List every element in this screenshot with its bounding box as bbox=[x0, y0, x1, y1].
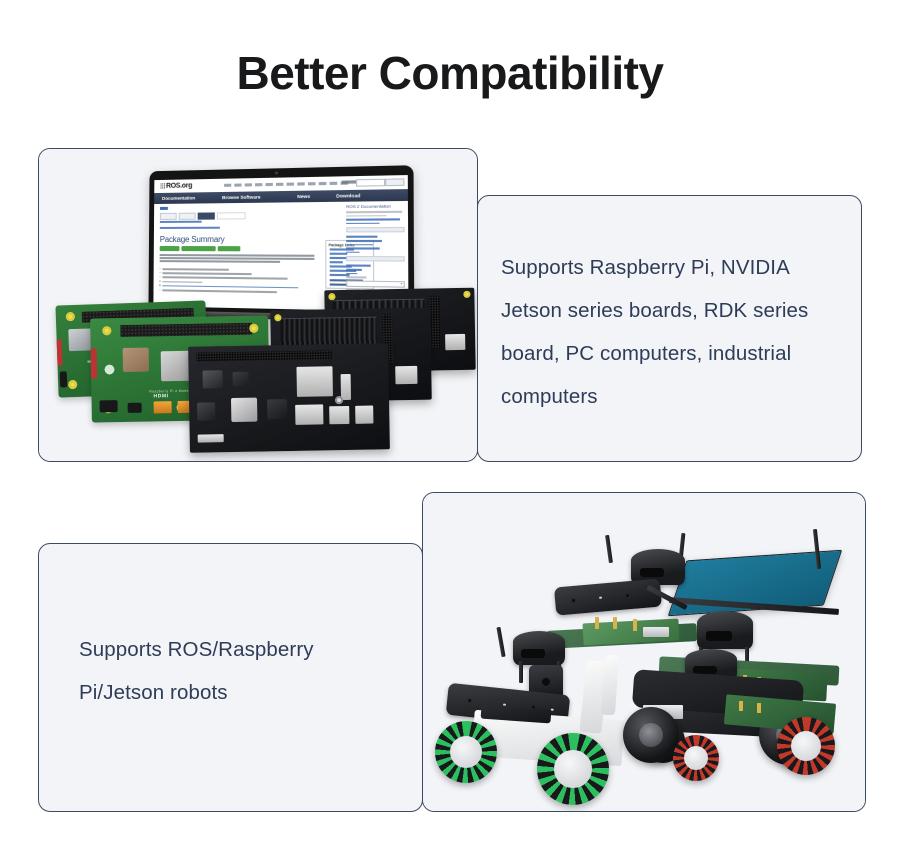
summary-bullets bbox=[162, 268, 317, 296]
ethernet-port bbox=[445, 334, 465, 350]
mecanum-wheel bbox=[435, 721, 497, 783]
ros-search-label bbox=[342, 180, 356, 183]
raspberry-logo-icon bbox=[103, 360, 116, 375]
chip bbox=[233, 372, 249, 386]
usb-port bbox=[295, 404, 323, 424]
ribbon-connector bbox=[198, 434, 224, 442]
boards-image-card: ROS.org Documentation Browse Software Ne… bbox=[38, 148, 478, 462]
usb-port bbox=[355, 406, 373, 424]
display-connector bbox=[91, 348, 98, 378]
hdmi-label: HDMI bbox=[153, 393, 168, 399]
page-title: Better Compatibility bbox=[0, 46, 900, 100]
ros-search-button[interactable] bbox=[385, 178, 404, 186]
status-badge bbox=[181, 246, 215, 251]
chip bbox=[123, 348, 149, 372]
chip bbox=[68, 328, 93, 351]
sidebar-heading: ROS 2 Documentation bbox=[346, 203, 404, 209]
link-line[interactable] bbox=[160, 227, 220, 229]
audio-jack bbox=[100, 400, 118, 412]
robots-scene bbox=[423, 493, 865, 811]
sidebar-divider bbox=[346, 227, 404, 233]
connector bbox=[57, 339, 63, 365]
chip bbox=[197, 402, 215, 420]
mecanum-wheel bbox=[777, 717, 835, 775]
memory-chip bbox=[267, 399, 287, 419]
summary-paragraph bbox=[160, 254, 315, 265]
robots-image-card bbox=[422, 492, 866, 812]
status-badge bbox=[218, 246, 241, 251]
webcam-icon bbox=[274, 171, 277, 174]
lidar-sensor bbox=[513, 631, 565, 665]
antenna bbox=[605, 535, 613, 563]
distro-tabs[interactable] bbox=[160, 212, 246, 220]
boards-text-card: Supports Raspberry Pi, NVIDIA Jetson ser… bbox=[477, 195, 862, 462]
page-root: Better Compatibility Supports Raspberry … bbox=[0, 0, 900, 866]
gpio-header bbox=[120, 323, 252, 337]
link-line[interactable] bbox=[160, 221, 202, 223]
ros-utility-links[interactable] bbox=[224, 181, 351, 186]
hdmi-port bbox=[154, 401, 172, 413]
nav-browse-software[interactable]: Browse Software bbox=[222, 194, 261, 200]
tab-item-active[interactable] bbox=[198, 212, 215, 219]
robot-front-right bbox=[613, 643, 863, 812]
sidebar-divider bbox=[346, 256, 405, 262]
nav-documentation[interactable]: Documentation bbox=[162, 195, 195, 200]
rdk-board-front bbox=[188, 343, 390, 452]
shield-can bbox=[296, 366, 333, 397]
mecanum-wheel bbox=[537, 733, 609, 805]
usb-c-port bbox=[260, 431, 272, 440]
mecanum-wheel bbox=[673, 735, 719, 781]
antenna bbox=[496, 627, 505, 657]
tab-item[interactable] bbox=[217, 212, 246, 219]
usb-c-port bbox=[128, 403, 142, 413]
connector bbox=[341, 374, 351, 400]
soc-chip bbox=[203, 370, 223, 388]
package-summary-heading: Package Summary bbox=[160, 235, 225, 244]
ros-logo[interactable]: ROS.org bbox=[160, 182, 192, 190]
wheel bbox=[623, 707, 679, 763]
ros-search-input[interactable] bbox=[356, 179, 385, 187]
breadcrumb[interactable] bbox=[160, 207, 168, 210]
status-badges bbox=[160, 246, 241, 251]
gpio-header bbox=[196, 350, 332, 361]
sidebar-select[interactable] bbox=[346, 280, 405, 288]
tab-item[interactable] bbox=[179, 213, 196, 220]
grid-dots-icon bbox=[160, 183, 165, 189]
connector bbox=[60, 371, 68, 387]
robots-text-card: Supports ROS/Raspberry Pi/Jetson robots bbox=[38, 543, 423, 812]
cpu-chip bbox=[231, 398, 257, 422]
nav-news[interactable]: News bbox=[297, 194, 310, 199]
boards-scene: ROS.org Documentation Browse Software Ne… bbox=[39, 149, 477, 461]
nav-download[interactable]: Download bbox=[336, 193, 360, 199]
ethernet-port bbox=[395, 366, 417, 384]
robots-text: Supports ROS/Raspberry Pi/Jetson robots bbox=[79, 628, 379, 714]
tab-item[interactable] bbox=[160, 213, 177, 220]
status-badge bbox=[160, 246, 180, 251]
usb-port bbox=[329, 406, 349, 424]
boards-text: Supports Raspberry Pi, NVIDIA Jetson ser… bbox=[501, 246, 849, 418]
